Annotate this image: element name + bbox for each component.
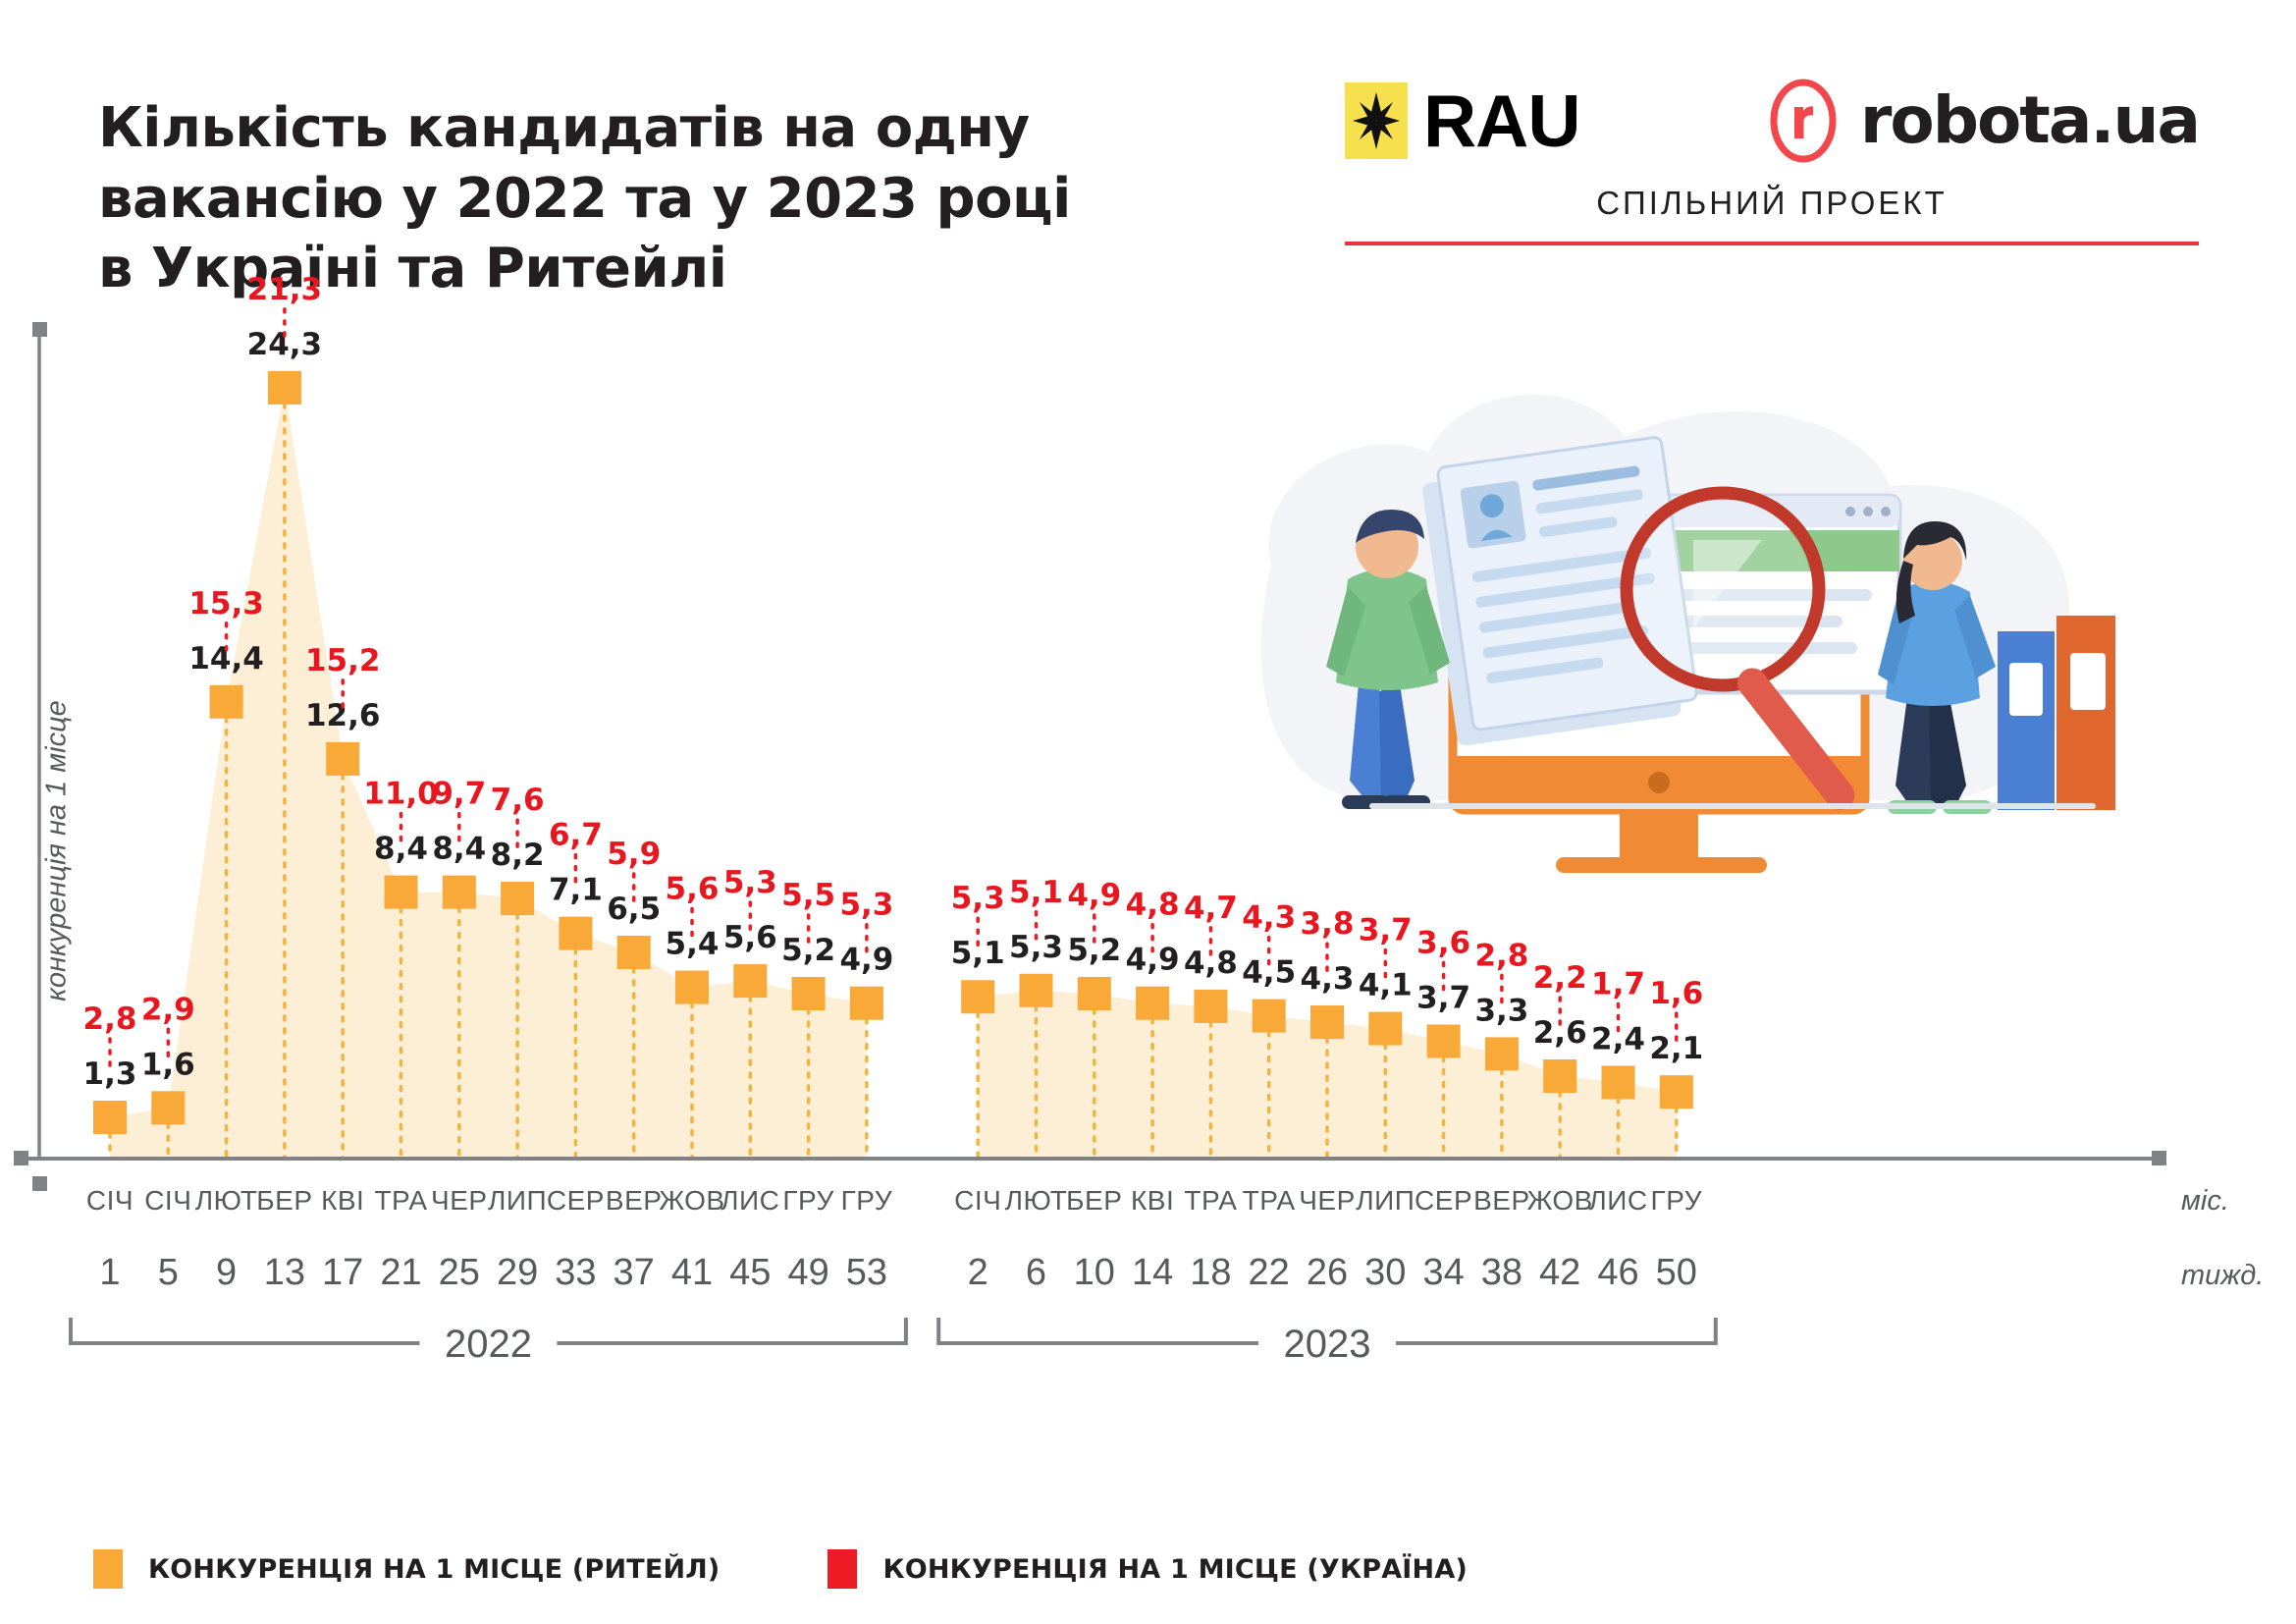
y-axis-label: конкуренція на 1 місце <box>41 645 74 1057</box>
ukraine-value-label: 1,7 <box>1591 966 1645 1001</box>
data-marker-retail <box>1020 974 1053 1007</box>
x-axis-week-label: 14 <box>1132 1252 1173 1293</box>
x-axis-week-label: 9 <box>216 1252 237 1293</box>
x-axis-month-label: БЕР <box>256 1185 312 1216</box>
data-marker-retail <box>210 685 243 719</box>
x-axis-unit-week: тижд. <box>2181 1260 2264 1291</box>
ukraine-value-label: 3,8 <box>1301 906 1355 942</box>
ukraine-value-label: 1,6 <box>1649 976 1703 1011</box>
x-axis-week-label: 10 <box>1074 1252 1115 1293</box>
x-axis-week-label: 49 <box>787 1252 828 1293</box>
data-marker-retail <box>1427 1024 1461 1057</box>
x-axis-month-label: ЛИС <box>1588 1185 1647 1216</box>
x-axis-month-label: КВІ <box>321 1185 364 1216</box>
ukraine-value-label: 2,8 <box>1474 938 1528 973</box>
x-axis-unit-month: міс. <box>2181 1185 2229 1217</box>
data-marker-retail <box>1368 1012 1402 1046</box>
ukraine-value-label: 4,8 <box>1126 888 1180 923</box>
data-marker-retail <box>1543 1059 1576 1093</box>
data-marker-retail <box>617 936 651 969</box>
ukraine-value-label: 3,7 <box>1359 913 1413 948</box>
x-axis-month-label: СІЧ <box>86 1185 133 1216</box>
data-marker-retail <box>1602 1065 1635 1099</box>
x-axis-month-label: ТРА <box>374 1185 427 1216</box>
data-marker-retail <box>1660 1075 1693 1109</box>
ukraine-value-label: 3,6 <box>1416 925 1470 960</box>
x-axis-week-label: 1 <box>99 1252 120 1293</box>
x-axis-month-label: СІЧ <box>144 1185 191 1216</box>
data-marker-retail <box>1194 990 1227 1023</box>
legend-swatch-retail <box>93 1549 123 1589</box>
x-axis-week-label: 38 <box>1481 1252 1522 1293</box>
x-axis-month-label: ВЕР <box>606 1185 663 1216</box>
x-axis-month-label: ГРУ <box>841 1185 893 1216</box>
x-axis-month-label: БЕР <box>1066 1185 1122 1216</box>
x-axis-month-label: СЕР <box>1415 1185 1472 1216</box>
x-axis-month-label: ЧЕР <box>431 1185 488 1216</box>
legend-item-retail[interactable]: КОНКУРЕНЦІЯ НА 1 МІСЦЕ (РИТЕЙЛ) <box>93 1549 720 1589</box>
x-axis-week-label: 30 <box>1364 1252 1406 1293</box>
x-axis-month-label: СЕР <box>547 1185 605 1216</box>
ukraine-value-label: 5,3 <box>839 888 893 923</box>
x-axis-month-label: КВІ <box>1131 1185 1174 1216</box>
data-marker-retail <box>559 917 592 950</box>
x-axis-week-label: 33 <box>555 1252 596 1293</box>
data-marker-retail <box>385 876 418 909</box>
ukraine-value-label: 2,9 <box>141 992 195 1027</box>
data-marker-retail <box>1485 1037 1519 1070</box>
data-marker-retail <box>675 971 709 1004</box>
x-axis-month-label: ЛИП <box>1356 1185 1415 1216</box>
ukraine-value-label: 5,1 <box>1009 875 1063 910</box>
x-axis-month-label: ГРУ <box>1651 1185 1703 1216</box>
x-axis-week-label: 53 <box>846 1252 887 1293</box>
x-axis-month-label: ЖОВ <box>659 1185 724 1216</box>
chart-legend: КОНКУРЕНЦІЯ НА 1 МІСЦЕ (РИТЕЙЛ) КОНКУРЕН… <box>93 1549 1468 1589</box>
x-axis-week-label: 13 <box>264 1252 305 1293</box>
logo-row: RAU robota.ua <box>1345 79 2199 163</box>
x-axis-month-label: ЛИП <box>488 1185 547 1216</box>
data-marker-retail <box>1253 1000 1286 1033</box>
ukraine-value-label: 2,8 <box>83 1001 137 1037</box>
ukraine-value-label: 4,3 <box>1242 900 1296 936</box>
x-axis-week-label: 34 <box>1422 1252 1464 1293</box>
x-axis-week-label: 25 <box>439 1252 480 1293</box>
robota-wordmark: robota.ua <box>1860 88 2199 153</box>
x-axis-month-label: ТРА <box>1184 1185 1237 1216</box>
data-marker-retail <box>501 882 534 915</box>
x-axis-month-label: СІЧ <box>954 1185 1001 1216</box>
data-marker-retail <box>792 977 826 1010</box>
ukraine-value-label: 5,5 <box>781 878 835 913</box>
legend-item-ukraine[interactable]: КОНКУРЕНЦІЯ НА 1 МІСЦЕ (УКРАЇНА) <box>828 1549 1468 1589</box>
x-axis-week-label: 45 <box>729 1252 771 1293</box>
rau-logo[interactable]: RAU <box>1345 82 1580 159</box>
rau-wordmark: RAU <box>1423 84 1580 158</box>
x-axis-week-label: 50 <box>1656 1252 1697 1293</box>
data-marker-retail <box>1078 977 1111 1010</box>
data-marker-retail <box>151 1091 185 1124</box>
x-axis-week-label: 17 <box>322 1252 363 1293</box>
legend-swatch-ukraine <box>828 1549 857 1589</box>
robota-r-oval-icon <box>1768 78 1839 164</box>
x-axis-week-label: 26 <box>1307 1252 1348 1293</box>
data-marker-retail <box>850 987 883 1020</box>
ukraine-value-label: 6,7 <box>549 818 603 853</box>
header: Кількість кандидатів на одну вакансію у … <box>0 0 2296 245</box>
ukraine-value-label: 11,0 <box>363 777 439 812</box>
x-axis-month-label: ЧЕР <box>1299 1185 1356 1216</box>
data-marker-retail <box>961 980 994 1013</box>
x-axis-week-label: 2 <box>968 1252 988 1293</box>
x-axis-month-label: ЛЮТ <box>1005 1185 1068 1216</box>
x-axis-week-label: 21 <box>380 1252 421 1293</box>
x-axis-week-label: 37 <box>614 1252 655 1293</box>
x-axis-month-label: ЛИС <box>721 1185 779 1216</box>
legend-label-retail: КОНКУРЕНЦІЯ НА 1 МІСЦЕ (РИТЕЙЛ) <box>148 1554 720 1585</box>
ukraine-value-label: 4,9 <box>1067 878 1121 913</box>
ukraine-value-label: 5,3 <box>723 865 777 900</box>
x-axis-week-label: 18 <box>1190 1252 1231 1293</box>
x-axis-week-label: 22 <box>1249 1252 1290 1293</box>
year-bracket-2023: 2023 <box>1284 1323 1371 1366</box>
ukraine-value-label: 5,3 <box>951 881 1005 916</box>
data-marker-retail <box>1136 987 1169 1020</box>
chart-svg: 1,32,8СІЧ11,62,9СІЧ514,415,3ЛЮТ924,321,3… <box>0 245 2296 1404</box>
robota-logo[interactable]: robota.ua <box>1768 78 2199 164</box>
ukraine-value-label: 21,3 <box>247 272 323 307</box>
title-line-2: вакансію у 2022 та у 2023 році <box>98 164 1256 235</box>
x-axis-month-label: ГРУ <box>782 1185 834 1216</box>
ukraine-value-label: 4,7 <box>1184 891 1238 926</box>
year-bracket-2022: 2022 <box>445 1323 532 1366</box>
brand-block: RAU robota.ua СПІЛЬНИЙ ПРОЕКТ <box>1345 79 2199 245</box>
x-axis-week-label: 6 <box>1026 1252 1046 1293</box>
subbrand-label: СПІЛЬНИЙ ПРОЕКТ <box>1345 185 2199 222</box>
x-axis-month-label: ВЕР <box>1473 1185 1530 1216</box>
title-line-1: Кількість кандидатів на одну <box>98 93 1256 164</box>
chart-area: конкуренція на 1 місце 1,32,8СІЧ11,62,9С… <box>0 245 2296 1404</box>
x-axis-month-label: ЛЮТ <box>195 1185 258 1216</box>
data-marker-retail <box>1310 1005 1344 1039</box>
data-marker-retail <box>268 371 301 405</box>
x-axis-week-label: 5 <box>158 1252 179 1293</box>
legend-label-ukraine: КОНКУРЕНЦІЯ НА 1 МІСЦЕ (УКРАЇНА) <box>882 1554 1468 1585</box>
x-axis-month-label: ТРА <box>1243 1185 1296 1216</box>
ukraine-value-label: 2,2 <box>1533 960 1587 996</box>
data-marker-retail <box>326 742 359 776</box>
ukraine-value-label: 5,6 <box>666 872 720 907</box>
ukraine-value-label: 7,6 <box>491 783 545 818</box>
ukraine-value-label: 5,9 <box>607 837 661 872</box>
x-axis-week-label: 41 <box>671 1252 713 1293</box>
data-marker-retail <box>443 876 476 909</box>
x-axis-month-label: ЖОВ <box>1527 1185 1593 1216</box>
data-marker-retail <box>93 1101 127 1134</box>
ukraine-value-label: 15,2 <box>305 643 381 678</box>
x-axis-week-label: 46 <box>1597 1252 1638 1293</box>
ukraine-value-label: 9,7 <box>432 777 486 812</box>
x-axis-week-label: 29 <box>497 1252 538 1293</box>
x-axis-week-label: 42 <box>1539 1252 1580 1293</box>
eight-point-star-icon <box>1345 82 1408 159</box>
data-marker-retail <box>733 964 767 998</box>
ukraine-value-label: 15,3 <box>188 586 264 622</box>
